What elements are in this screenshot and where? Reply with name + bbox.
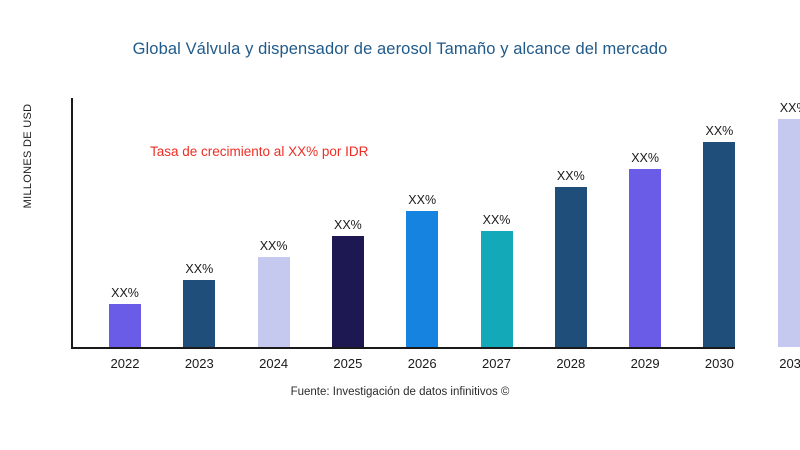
bar[interactable]	[555, 187, 587, 347]
source-note: Fuente: Investigación de datos infinitiv…	[0, 386, 800, 398]
bar-group: XX%	[109, 278, 141, 347]
bar-value-label: XX%	[705, 124, 733, 138]
bar-group: XX%	[703, 116, 735, 347]
bar-value-label: XX%	[185, 262, 213, 276]
x-tick-2029: 2029	[619, 356, 671, 371]
bar-group: XX%	[406, 185, 438, 347]
chart-title: Global Válvula y dispensador de aerosol …	[0, 40, 800, 59]
plot-area: XX%XX%XX%XX%XX%XX%XX%XX%XX%XX% 202220232…	[71, 98, 800, 348]
bar[interactable]	[629, 169, 661, 347]
bar-value-label: XX%	[557, 169, 585, 183]
bar-value-label: XX%	[111, 286, 139, 300]
bar[interactable]	[332, 236, 364, 347]
bar-group: XX%	[183, 254, 215, 347]
bar-group: XX%	[555, 161, 587, 347]
x-tick-2022: 2022	[99, 356, 151, 371]
bar[interactable]	[109, 304, 141, 347]
bar[interactable]	[703, 142, 735, 347]
bar-value-label: XX%	[631, 151, 659, 165]
x-tick-2027: 2027	[471, 356, 523, 371]
y-axis-line	[71, 98, 73, 348]
bar-value-label: XX%	[260, 239, 288, 253]
bar-group: XX%	[332, 210, 364, 347]
x-tick-2031: 2031	[768, 356, 800, 371]
bar-group: XX%	[258, 231, 290, 347]
y-axis-label: MILLONES DE USD	[22, 66, 34, 246]
x-tick-2023: 2023	[173, 356, 225, 371]
bar[interactable]	[406, 211, 438, 347]
bar[interactable]	[778, 119, 800, 347]
x-tick-2026: 2026	[396, 356, 448, 371]
bar-value-label: XX%	[780, 101, 800, 115]
x-tick-2030: 2030	[693, 356, 745, 371]
bar-group: XX%	[481, 205, 513, 347]
x-tick-2028: 2028	[545, 356, 597, 371]
x-axis-line	[71, 347, 735, 349]
bar[interactable]	[183, 280, 215, 347]
bar-value-label: XX%	[483, 213, 511, 227]
chart-figure: Global Válvula y dispensador de aerosol …	[0, 0, 800, 450]
x-tick-2024: 2024	[248, 356, 300, 371]
bar[interactable]	[258, 257, 290, 347]
x-tick-2025: 2025	[322, 356, 374, 371]
bar-group: XX%	[629, 143, 661, 347]
bar-group: XX%	[778, 93, 800, 347]
bar[interactable]	[481, 231, 513, 347]
bar-value-label: XX%	[408, 193, 436, 207]
bar-value-label: XX%	[334, 218, 362, 232]
